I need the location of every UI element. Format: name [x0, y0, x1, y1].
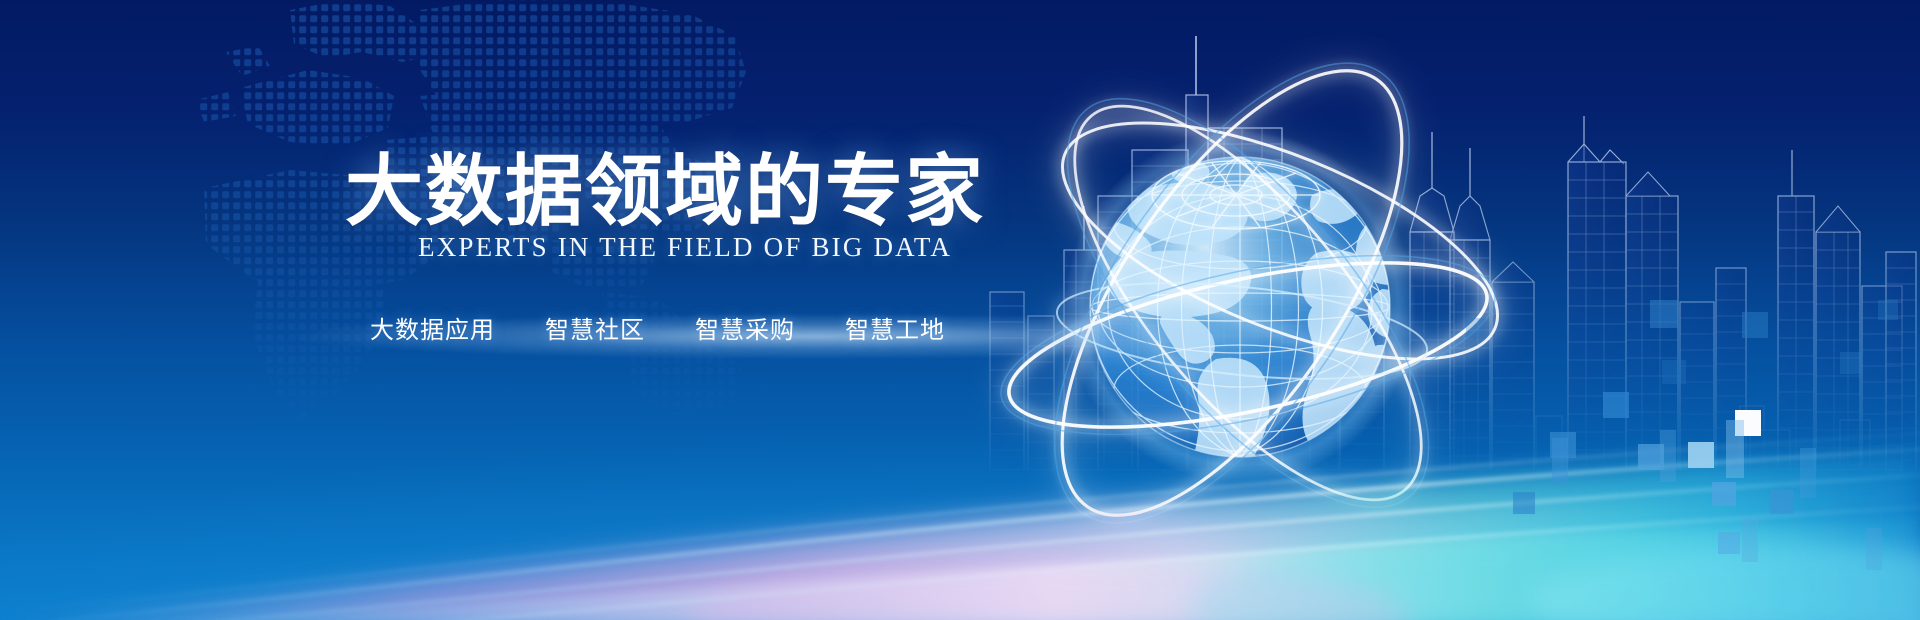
bar-accent: [1800, 448, 1816, 498]
keyword-item-smart-procurement[interactable]: 智慧采购: [695, 310, 795, 345]
square-accent: [1878, 300, 1898, 320]
square-accent: [1650, 300, 1678, 328]
square-accent: [1712, 482, 1736, 506]
keyword-item-big-data-application[interactable]: 大数据应用: [370, 310, 495, 345]
bar-accent: [1660, 430, 1676, 482]
square-accent-bright: [1735, 410, 1761, 436]
globe-graphic: [980, 45, 1540, 585]
keyword-nav: 大数据应用 智慧社区 智慧采购 智慧工地: [370, 310, 945, 345]
city-skyline: [980, 0, 1920, 470]
keyword-item-smart-construction[interactable]: 智慧工地: [845, 310, 945, 345]
bar-accent: [1866, 528, 1882, 570]
square-accent: [1840, 352, 1862, 374]
keyword-item-smart-community[interactable]: 智慧社区: [545, 310, 645, 345]
square-accent: [1742, 312, 1768, 338]
square-accent: [1466, 318, 1486, 338]
banner-copy: 大数据领域的专家 EXPERTS IN THE FIELD OF BIG DAT…: [0, 0, 1920, 620]
square-accent: [1550, 432, 1576, 458]
square-accent: [1770, 490, 1794, 514]
bar-accent: [1552, 438, 1568, 484]
bar-accent: [1742, 518, 1758, 562]
page-title: 大数据领域的专家: [345, 150, 985, 234]
big-data-banner: 大数据领域的专家 EXPERTS IN THE FIELD OF BIG DAT…: [0, 0, 1920, 620]
page-subtitle: EXPERTS IN THE FIELD OF BIG DATA: [418, 232, 952, 263]
square-accent: [1603, 392, 1629, 418]
square-accent: [1638, 444, 1664, 470]
square-accent: [1513, 492, 1535, 514]
square-accent: [1718, 532, 1740, 554]
decorative-squares: [0, 0, 1920, 620]
square-accent: [1662, 360, 1686, 384]
bar-accent: [1726, 420, 1744, 478]
aurora-ribbon: [0, 356, 1920, 620]
square-accent: [1688, 442, 1714, 468]
